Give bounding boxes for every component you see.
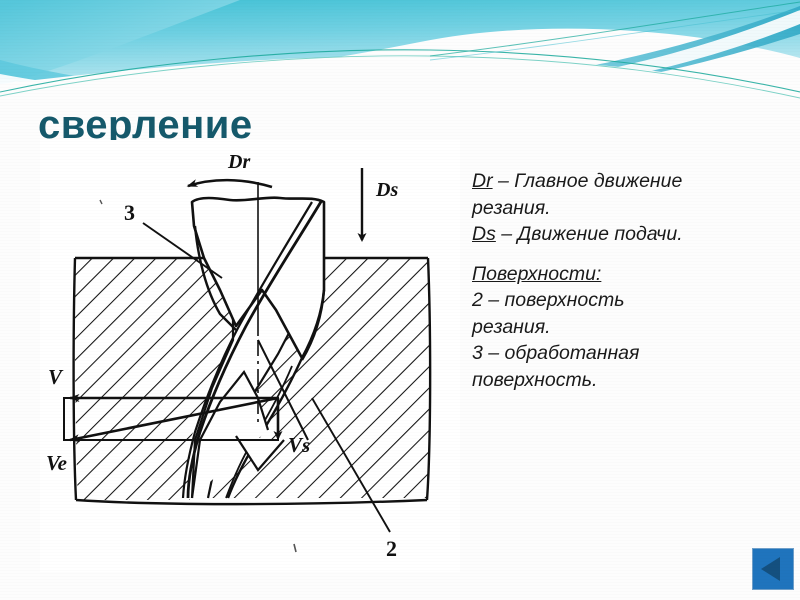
dr-definition: – Главное движение [493, 170, 683, 192]
scan-artifact-tick-1 [100, 200, 102, 204]
explanation-line-8: поверхность. [472, 367, 790, 394]
drilling-process-diagram: Dr Ds V Ve Vs 3 2 [40, 140, 460, 572]
back-navigation-button[interactable] [752, 548, 794, 590]
dr-term: Dr [472, 170, 493, 192]
explanation-line-6: резания. [472, 314, 790, 341]
ds-label: Ds [375, 179, 398, 201]
dr-rotation-arrow [188, 180, 272, 187]
ds-term: Ds [472, 223, 496, 245]
presentation-slide: сверление [0, 0, 800, 600]
explanation-line-3: Ds – Движение подачи. [472, 221, 790, 248]
explanation-line-1: Dr – Главное движение [472, 168, 790, 195]
vs-label: Vs [288, 433, 310, 457]
explanation-line-2: резания. [472, 195, 790, 222]
v-label: V [48, 365, 64, 389]
explanation-spacer [472, 248, 790, 261]
explanation-line-5: 2 – поверхность [472, 287, 790, 314]
explanation-line-7: 3 – обработанная [472, 340, 790, 367]
triangle-left-icon [761, 557, 780, 581]
surfaces-heading: Поверхности: [472, 263, 601, 285]
scan-artifact-tick-2 [294, 544, 296, 552]
explanation-heading-surfaces: Поверхности: [472, 261, 790, 288]
dr-label: Dr [227, 151, 250, 173]
explanation-text-block: Dr – Главное движение резания. Ds – Движ… [472, 168, 790, 393]
callout-2-label: 2 [386, 536, 397, 561]
ds-definition: – Движение подачи. [496, 223, 683, 245]
ve-label: Ve [46, 451, 67, 475]
callout-3-label: 3 [124, 200, 135, 225]
